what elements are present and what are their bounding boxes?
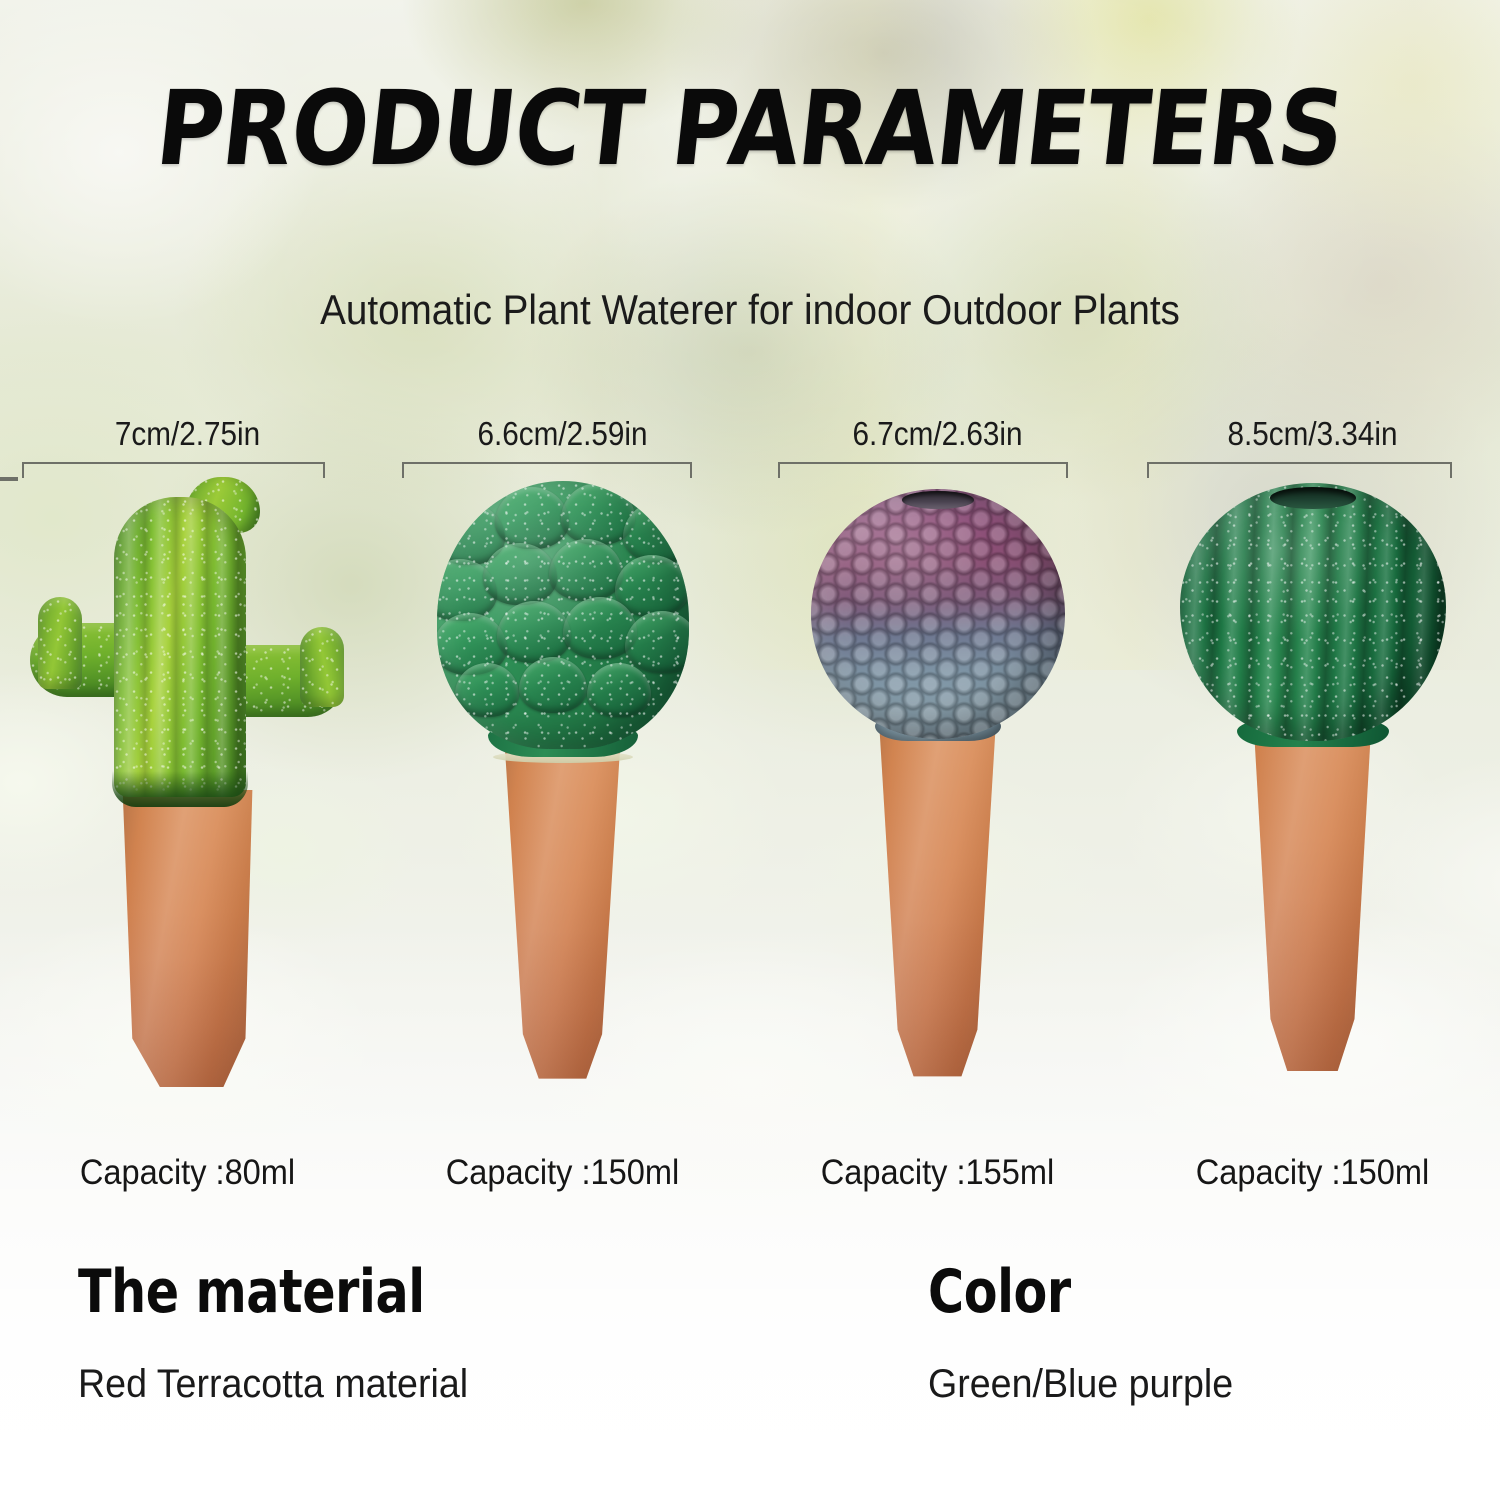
cactus-right-arm-upper (300, 627, 344, 707)
water-fill-opening (1270, 487, 1356, 509)
page-subtitle: Automatic Plant Waterer for indoor Outdo… (60, 287, 1440, 333)
material-info-block: The material Red Terracotta material (78, 1262, 501, 1406)
cactus-main-stem (114, 497, 246, 797)
cactus-left-arm-upper (38, 597, 82, 689)
product-card-artichoke: 6.6cm/2.59in (375, 415, 750, 1225)
artichoke-body (437, 481, 689, 749)
cactus-base-shadow (112, 771, 248, 807)
product-image-artichoke (375, 475, 750, 1095)
water-fill-opening (902, 491, 974, 509)
width-dimension-label: 8.5cm/3.34in (1144, 415, 1482, 453)
product-image-barrel-cactus (1125, 475, 1500, 1095)
product-card-saguaro-cactus: 7cm/2.75in Capacity :80ml (0, 415, 375, 1225)
barrel-cactus-head (1180, 483, 1446, 741)
capacity-label: Capacity :155ml (763, 1153, 1112, 1193)
color-text: Green/Blue purple (928, 1362, 1233, 1406)
material-text: Red Terracotta material (78, 1362, 475, 1406)
terracotta-spike (119, 790, 257, 1093)
sphere-head (811, 489, 1065, 739)
color-heading: Color (928, 1262, 1194, 1322)
width-dimension-label: 6.6cm/2.59in (394, 415, 732, 453)
product-image-bumpy-sphere (750, 475, 1125, 1095)
sphere-honeycomb-texture (811, 489, 1065, 739)
height-dimension-bracket-4 (0, 477, 18, 481)
product-card-barrel-cactus: 8.5cm/3.34in Capacity :150ml (1125, 415, 1500, 1225)
infographic-content: PRODUCT PARAMETERS Automatic Plant Water… (0, 0, 1500, 1500)
artichoke-head (437, 481, 689, 749)
terracotta-spike (497, 740, 629, 1082)
product-card-bumpy-sphere: 6.7cm/2.63in Capacity :155ml (750, 415, 1125, 1225)
width-dimension-label: 6.7cm/2.63in (769, 415, 1107, 453)
terracotta-spike (871, 720, 1004, 1080)
material-heading: The material (78, 1262, 425, 1322)
product-image-saguaro-cactus (0, 475, 375, 1095)
capacity-label: Capacity :80ml (13, 1153, 362, 1193)
color-info-block: Color Green/Blue purple (928, 1262, 1253, 1406)
saguaro-cactus-head (28, 475, 348, 815)
product-row: 7cm/2.75in Capacity :80ml (0, 415, 1500, 1225)
sphere-body (811, 489, 1065, 739)
capacity-label: Capacity :150ml (388, 1153, 737, 1193)
page-title: PRODUCT PARAMETERS (84, 78, 1415, 181)
barrel-cactus-body (1180, 483, 1446, 741)
capacity-label: Capacity :150ml (1138, 1153, 1487, 1193)
width-dimension-label: 7cm/2.75in (19, 415, 357, 453)
